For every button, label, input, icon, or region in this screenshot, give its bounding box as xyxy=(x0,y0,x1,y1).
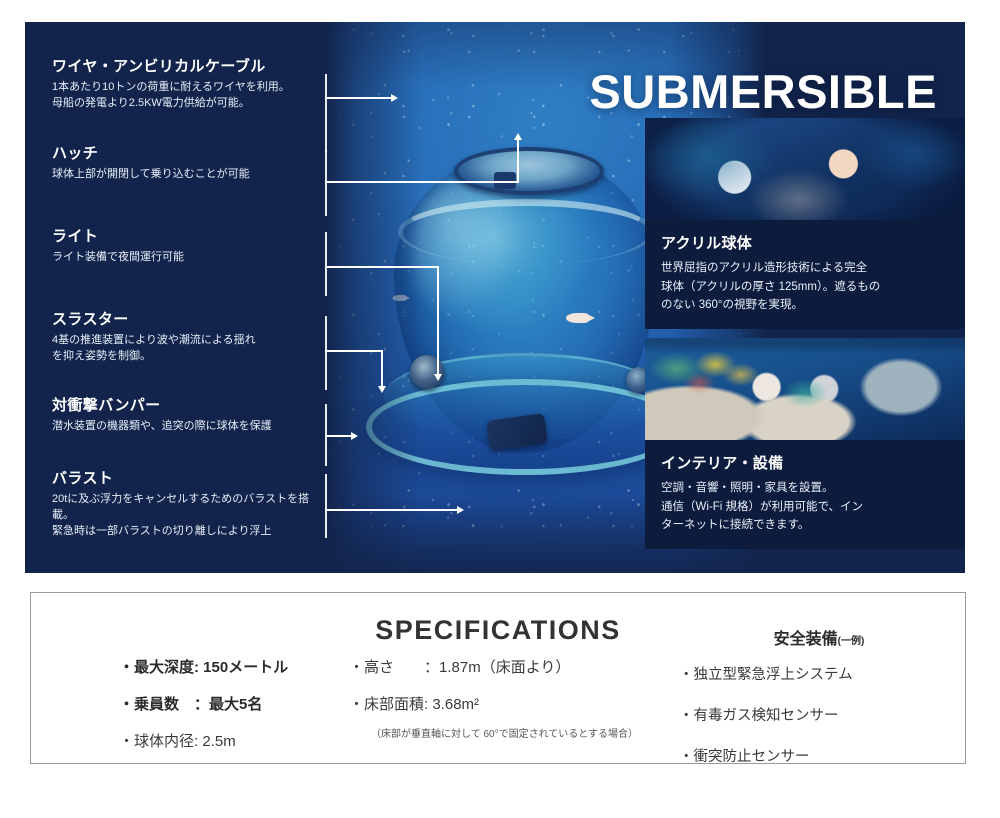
specifications-box: SPECIFICATIONS ・最大深度: 150メートル ・乗員数 ：最大5名… xyxy=(30,592,966,764)
callout-title: バラスト xyxy=(52,470,320,488)
couple-walking-interior-photo xyxy=(645,338,965,440)
safety-heading: 安全装備(一例) xyxy=(679,625,959,649)
card-acrylic-sphere: アクリル球体 世界屈指のアクリル造形技術による完全 球体（アクリルの厚さ 125… xyxy=(645,220,965,329)
safety-item: ・衝突防止センサー xyxy=(679,745,959,766)
callout-title: ワイヤ・アンビリカルケーブル xyxy=(52,58,320,76)
spec-column-safety: 安全装備(一例) ・独立型緊急浮上システム ・有毒ガス検知センサー ・衝突防止セ… xyxy=(679,625,959,786)
infographic-page: SUBMERSIBLE アクリル球体 世界屈指のアクリル造形技術による完全 球体… xyxy=(0,0,1000,818)
callout-title: ライト xyxy=(52,228,320,246)
leader-line-hatch xyxy=(325,181,519,183)
leader-tick-light xyxy=(325,232,327,296)
card-body-interior-equipment: 空調・音響・照明・家具を設置。 通信（Wi-Fi 規格）が利用可能で、イン ター… xyxy=(661,479,949,535)
safety-heading-text: 安全装備 xyxy=(774,631,838,648)
card-title-acrylic-sphere: アクリル球体 xyxy=(661,232,949,253)
callout-impact-bumper: 対衝撃バンパー 潜水装置の機器類や、追突の際に球体を保護 xyxy=(30,397,320,435)
leader-arrow-thruster xyxy=(378,386,386,393)
fish-icon xyxy=(566,313,588,323)
leader-arrow-bumper xyxy=(351,432,358,440)
leader-tick-thruster xyxy=(325,316,327,390)
callout-title: スラスター xyxy=(52,311,320,329)
leader-riser-hatch xyxy=(517,140,519,183)
leader-arrow-ballast xyxy=(457,506,464,514)
spec-column-measurements: ・高さ ：1.87m（床面より） ・床部面積: 3.68m² （床部が垂直軸に対… xyxy=(349,659,649,740)
spec-column-dimensions: ・最大深度: 150メートル ・乗員数 ：最大5名 ・球体内径: 2.5m xyxy=(119,659,369,770)
leader-line-wire xyxy=(325,97,393,99)
spec-item: ・球体内径: 2.5m xyxy=(119,733,369,751)
submersible-illustration xyxy=(358,117,688,517)
leader-line-bumper xyxy=(325,435,353,437)
safety-item: ・有毒ガス検知センサー xyxy=(679,704,959,725)
spec-item: ・乗員数 ：最大5名 xyxy=(119,696,369,714)
spec-item: ・床部面積: 3.68m² xyxy=(349,696,649,714)
leader-tick-hatch xyxy=(325,150,327,216)
hatch-ring-shape xyxy=(454,147,604,195)
callout-wire-umbilical-cable: ワイヤ・アンビリカルケーブル 1本あたり10トンの荷重に耐えるワイヤを利用。 母… xyxy=(30,58,320,112)
leader-tick-wire xyxy=(325,74,327,152)
leader-arrow-wire xyxy=(391,94,398,102)
card-body-acrylic-sphere: 世界屈指のアクリル造形技術による完全 球体（アクリルの厚さ 125mm）。遮るも… xyxy=(661,259,949,315)
callout-hatch: ハッチ 球体上部が開閉して乗り込むことが可能 xyxy=(30,145,320,183)
sphere-upper-band xyxy=(398,199,654,265)
leader-riser-thruster xyxy=(381,350,383,388)
safety-item: ・独立型緊急浮上システム xyxy=(679,663,959,684)
callout-thruster: スラスター 4基の推進装置により波や潮流による揺れ を抑え姿勢を制御。 xyxy=(30,311,320,365)
leader-line-thruster xyxy=(325,350,383,352)
leader-arrow-light xyxy=(434,374,442,381)
leader-line-light xyxy=(325,266,439,268)
spec-footnote: （床部が垂直軸に対して 60°で固定されているとする場合） xyxy=(371,725,649,740)
leader-tick-ballast xyxy=(325,474,327,538)
card-interior-equipment: インテリア・設備 空調・音響・照明・家具を設置。 通信（Wi-Fi 規格）が利用… xyxy=(645,440,965,549)
callout-body: 20tに及ぶ浮力をキャンセルするためのバラストを搭載。 緊急時は一部バラストの切… xyxy=(52,492,320,540)
callout-light: ライト ライト装備で夜間運行可能 xyxy=(30,228,320,266)
leader-line-ballast xyxy=(325,509,459,511)
leader-arrow-hatch xyxy=(514,133,522,140)
callout-title: 対衝撃バンパー xyxy=(52,397,320,415)
passengers-inside-sphere-photo xyxy=(645,118,965,220)
spec-item: ・高さ ：1.87m（床面より） xyxy=(349,659,649,677)
callout-ballast: バラスト 20tに及ぶ浮力をキャンセルするためのバラストを搭載。 緊急時は一部バ… xyxy=(30,470,320,540)
page-title: SUBMERSIBLE xyxy=(589,68,937,115)
callout-body: 1本あたり10トンの荷重に耐えるワイヤを利用。 母船の発電より2.5KW電力供給… xyxy=(52,80,320,112)
leader-riser-light xyxy=(437,266,439,376)
safety-heading-suffix: (一例) xyxy=(838,636,865,647)
callout-title: ハッチ xyxy=(52,145,320,163)
spec-item: ・最大深度: 150メートル xyxy=(119,659,369,677)
callout-body: 球体上部が開閉して乗り込むことが可能 xyxy=(52,167,320,183)
fish-icon xyxy=(392,295,405,301)
card-title-interior-equipment: インテリア・設備 xyxy=(661,452,949,473)
callout-body: 4基の推進装置により波や潮流による揺れ を抑え姿勢を制御。 xyxy=(52,333,320,365)
callout-body: ライト装備で夜間運行可能 xyxy=(52,250,320,266)
callout-body: 潜水装置の機器類や、追突の際に球体を保護 xyxy=(52,419,320,435)
